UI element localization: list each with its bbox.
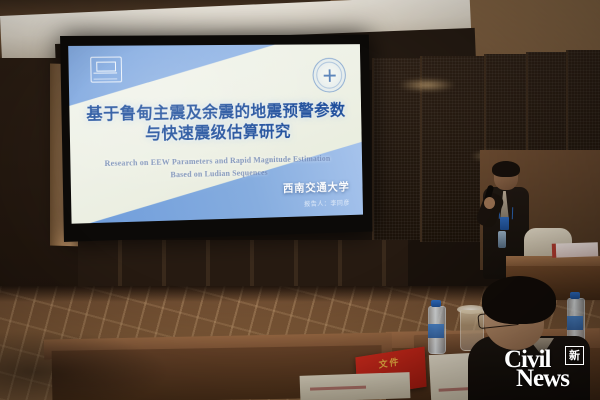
presenter-held-bottle: [498, 231, 506, 248]
panel-light-reflection: [398, 78, 456, 92]
bottle-label: [428, 324, 444, 338]
presenter-hair: [492, 161, 520, 177]
slide-title: 基于鲁甸主震及余震的地震预警参数 与快速震级估算研究: [69, 100, 361, 146]
bottle-cap: [431, 300, 441, 307]
seated-hair: [482, 276, 556, 324]
red-folder-glyphs: 文件: [366, 355, 414, 374]
floor-shadow: [0, 330, 170, 400]
watermark-line2: News: [516, 365, 569, 393]
name-card: [552, 242, 598, 258]
projection-screen-frame: 基于鲁甸主震及余震的地震预警参数 与快速震级估算研究 Research on E…: [60, 35, 372, 242]
book-emblem-icon: [90, 57, 122, 83]
presenter-hand: [484, 197, 495, 209]
projection-screen: 基于鲁甸主震及余震的地震预警参数 与快速震级估算研究 Research on E…: [68, 44, 363, 224]
photo-scene: 基于鲁甸主震及余震的地震预警参数 与快速震级估算研究 Research on E…: [0, 0, 600, 400]
slide-organization: 西南交通大学: [283, 179, 350, 196]
seal-inner-mark: [323, 69, 335, 82]
university-seal-icon: [312, 58, 346, 93]
water-bottle: [428, 300, 444, 352]
document-sheet: [300, 372, 411, 400]
watermark-cn-mark: 新: [565, 346, 584, 365]
watermark: Civil 新 News: [498, 344, 594, 394]
presenter-badge: [500, 217, 509, 230]
document-accent-line: [310, 386, 366, 391]
slide-presenter: 报告人：李同彦: [304, 197, 350, 208]
